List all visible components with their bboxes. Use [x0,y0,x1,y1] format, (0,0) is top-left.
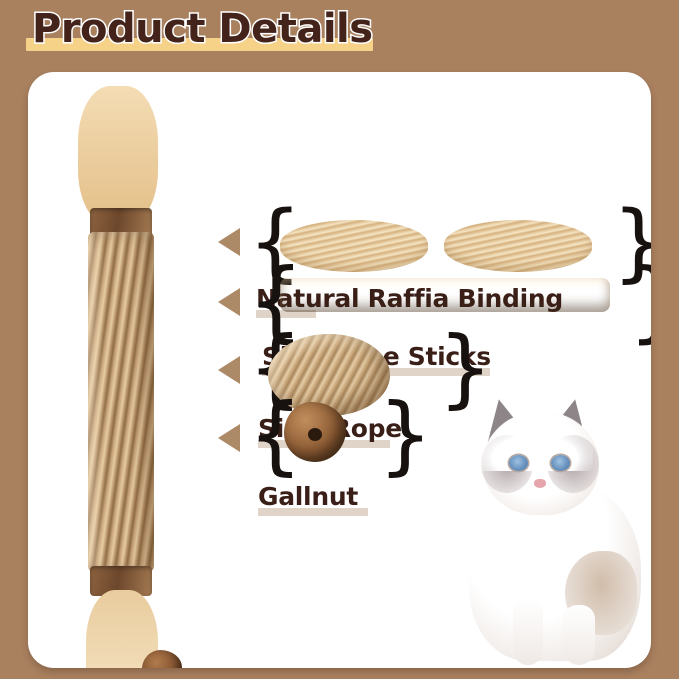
cat-eye-left [509,455,528,471]
detail-label-gallnut: Gallnut [258,482,358,511]
cat-leg-left [513,599,543,665]
cat-nose [534,479,546,488]
left-triangle-arrow-icon [218,288,240,316]
product-details-infographic: Product Details { } Natural Raffia Bindi… [0,0,679,679]
left-triangle-arrow-icon [218,228,240,256]
brace-close-icon: } [628,257,651,345]
cat-eye-right [551,455,570,471]
raffia-fringe-top [78,86,158,226]
left-triangle-arrow-icon [218,356,240,384]
content-card: { } Natural Raffia Binding { } Silvervin… [28,72,651,668]
gallnut-hole [308,428,322,441]
brace-close-icon: } [378,392,433,478]
silvervine-stick-image [280,278,610,312]
page-title-block: Product Details [26,4,426,60]
left-triangle-arrow-icon [218,424,240,452]
cat-leg-right [563,605,595,665]
hero-product-image [50,82,202,662]
sisal-rope-wrap [88,232,154,572]
raffia-bundle-right [444,220,592,272]
cat-forehead-highlight [477,427,593,471]
cat-photo [447,393,651,668]
page-title: Product Details [32,4,373,54]
